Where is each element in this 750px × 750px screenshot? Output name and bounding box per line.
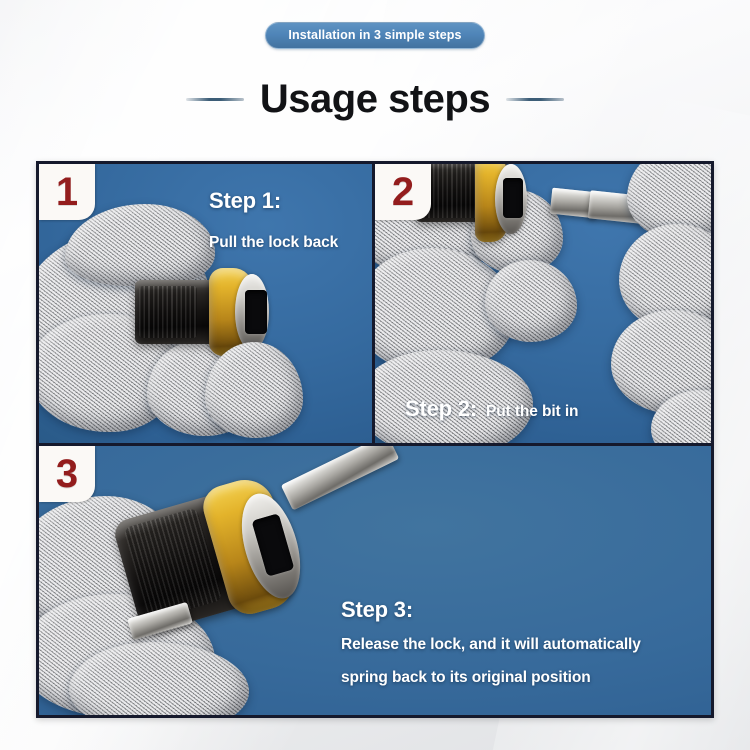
step-1-panel: 1 Step 1: Pull the lock back: [39, 164, 375, 443]
step-2-number-badge: 2: [375, 164, 431, 220]
steps-photo-grid: 1 Step 1: Pull the lock back: [36, 161, 714, 718]
title-rule-left-icon: [186, 98, 244, 101]
step-1-body: Pull the lock back: [209, 232, 338, 254]
steps-top-row: 1 Step 1: Pull the lock back: [39, 164, 711, 443]
page-title: Usage steps: [260, 77, 490, 121]
installation-badge: Installation in 3 simple steps: [265, 22, 484, 49]
step-3-heading: Step 3:: [341, 597, 641, 623]
step-1-number: 1: [56, 172, 78, 212]
step-2-panel: 2 Step 2: Put the bit in: [375, 164, 711, 443]
step-1-heading: Step 1:: [209, 188, 338, 214]
step-1-caption: Step 1: Pull the lock back: [209, 188, 338, 254]
step-3-panel: 3 Step 3: Release the lock, and it will …: [39, 446, 711, 715]
step-2-number: 2: [392, 172, 414, 212]
step-3-body-line-1: Release the lock, and it will automatica…: [341, 634, 641, 656]
step-3-body-line-2: spring back to its original position: [341, 667, 641, 689]
step-1-number-badge: 1: [39, 164, 95, 220]
step-2-body: Put the bit in: [486, 401, 578, 423]
step-2-heading: Step 2:: [405, 396, 477, 422]
steps-bottom-row: 3 Step 3: Release the lock, and it will …: [39, 443, 711, 715]
page-title-row: Usage steps: [0, 74, 750, 124]
badge-container: Installation in 3 simple steps: [0, 22, 750, 49]
step-3-number: 3: [56, 454, 78, 494]
step-3-caption: Step 3: Release the lock, and it will au…: [341, 597, 641, 689]
step-3-number-badge: 3: [39, 446, 95, 502]
step-2-caption: Step 2: Put the bit in: [405, 396, 578, 423]
product-infographic-page: Installation in 3 simple steps Usage ste…: [0, 0, 750, 750]
title-rule-right-icon: [506, 98, 564, 101]
